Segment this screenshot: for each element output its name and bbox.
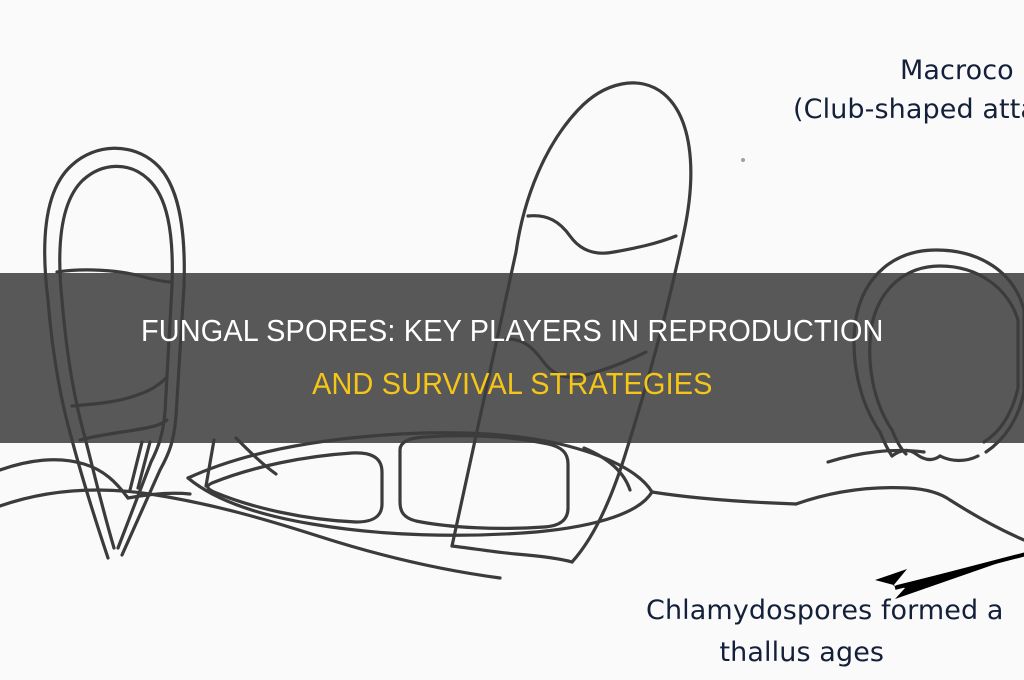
caption-chlamydospores: Chlamydospores formed a thallus ages (646, 592, 1004, 673)
banner-title-line-2: AND SURVIVAL STRATEGIES (312, 365, 713, 404)
speck-artifact (741, 158, 745, 162)
arrow-pointing-left-icon (855, 552, 1024, 600)
image-canvas: Macroco (Club-shaped atta Chlamydospores… (0, 0, 1024, 680)
title-banner-overlay: FUNGAL SPORES: KEY PLAYERS IN REPRODUCTI… (0, 273, 1024, 443)
caption-macroconidia: Macroco (Club-shaped atta (900, 52, 1014, 90)
hypha-horizontal (188, 433, 796, 536)
caption-macroconidia-line-1: Macroco (900, 55, 1014, 86)
hypha-right (796, 450, 1024, 540)
caption-chlamydospores-line-2: thallus ages (600, 634, 1004, 672)
caption-macroconidia-line-2: (Club-shaped atta (793, 91, 1024, 129)
banner-title-line-1: FUNGAL SPORES: KEY PLAYERS IN REPRODUCTI… (141, 312, 884, 351)
